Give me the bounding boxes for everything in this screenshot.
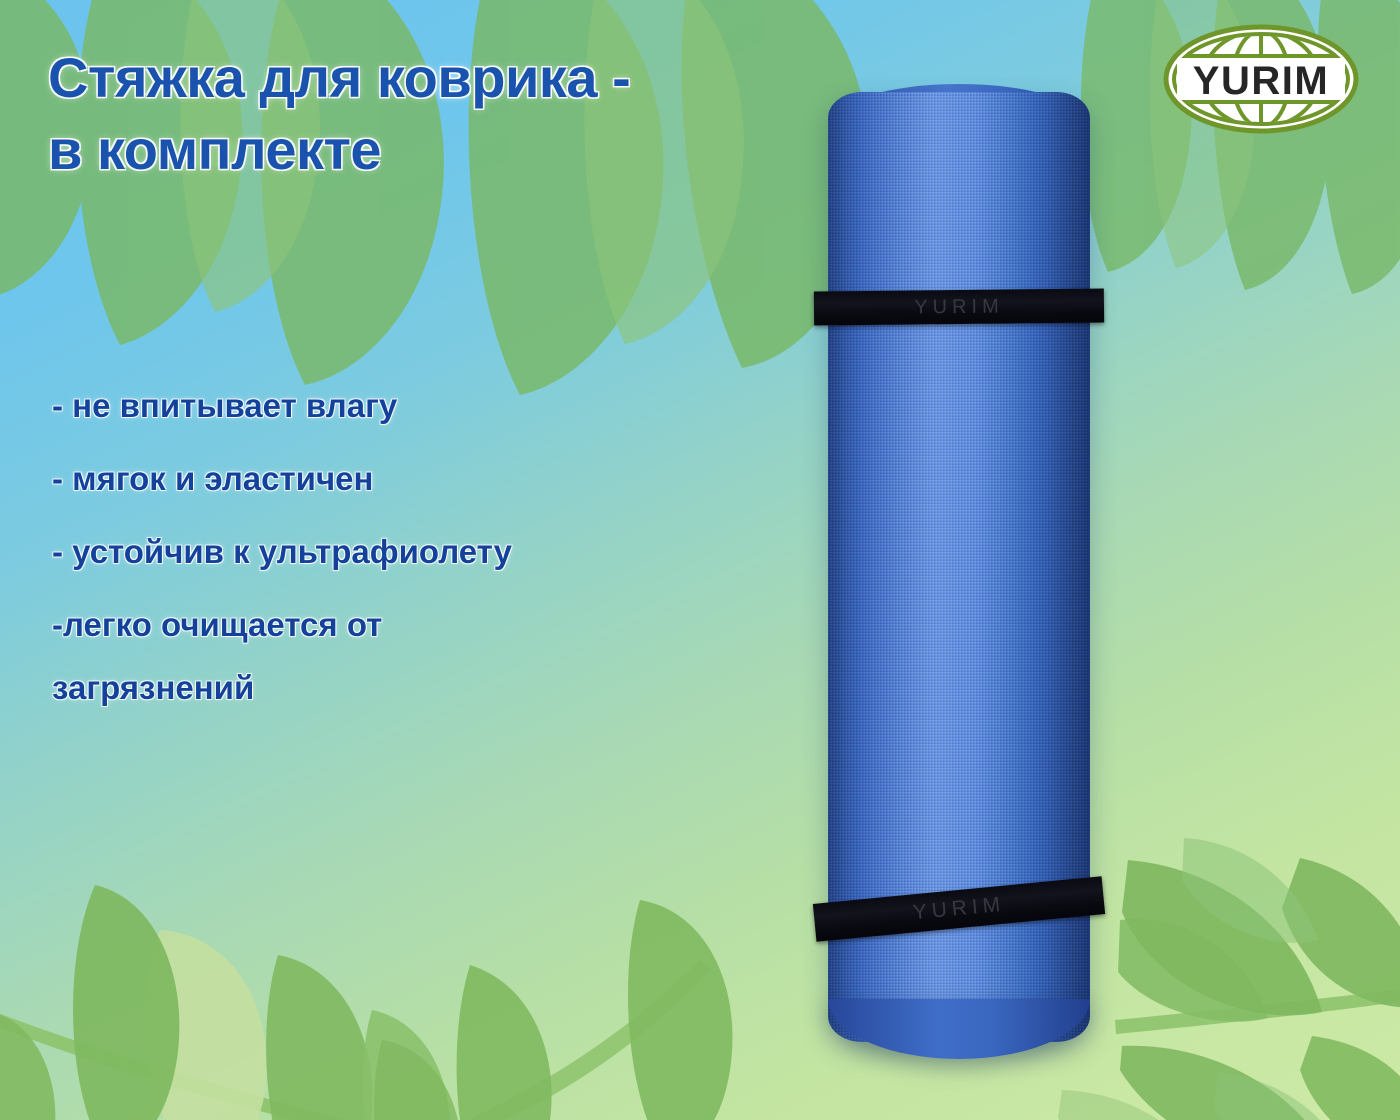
brand-logo: YURIM — [1163, 24, 1359, 134]
strap-top-label: YURIM — [914, 295, 1004, 319]
leaf-group-bottom-middle — [374, 900, 732, 1120]
page-title: Стяжка для коврика - в комплекте — [48, 42, 808, 185]
feature-item-4: -легко очищается от — [52, 607, 752, 644]
leaf-group-bottom-right — [1058, 838, 1400, 1120]
feature-item-3: - устойчив к ультрафиолету — [52, 534, 752, 571]
logo-brand-text: YURIM — [1193, 59, 1329, 103]
feature-item-4-continued: загрязнений — [52, 670, 752, 707]
title-line-2: в комплекте — [48, 114, 808, 186]
feature-item-1: - не впитывает влагу — [52, 388, 752, 425]
feature-list: - не впитывает влагу - мягок и эластичен… — [52, 388, 752, 743]
title-line-1: Стяжка для коврика - — [48, 42, 808, 114]
mat-strap-top: YURIM — [814, 288, 1104, 325]
feature-item-2: - мягок и эластичен — [52, 461, 752, 498]
product-image-rolled-mat: YURIM YURIM — [806, 84, 1098, 1059]
promo-banner: Стяжка для коврика - в комплекте - не вп… — [0, 0, 1400, 1120]
strap-bottom-label: YURIM — [912, 893, 1007, 926]
leaf-group-bottom-left — [0, 885, 450, 1120]
mat-bottom-cap — [828, 999, 1090, 1059]
